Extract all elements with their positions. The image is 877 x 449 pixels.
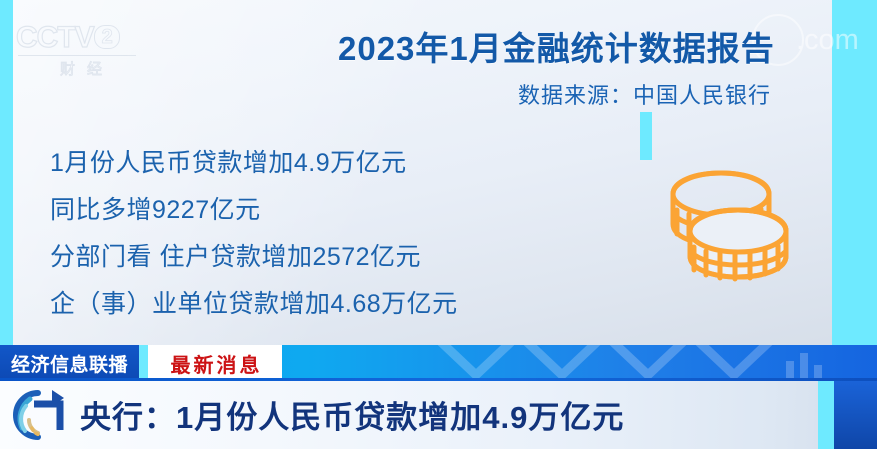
statistic-line: 同比多增9227亿元 (50, 187, 650, 234)
breaking-news-tag: 最新消息 (148, 345, 282, 381)
cctv-logo-rule (18, 55, 136, 56)
cctv-logo-wordmark: CCTV2 (16, 22, 144, 54)
cctv-channel-logo: CCTV2 财经 (16, 22, 144, 80)
cctv-logo-number: 2 (94, 25, 120, 49)
headline-text: 央行：1月份人民币贷款增加4.9万亿元 (80, 392, 624, 437)
strap-chevron-pattern (430, 345, 877, 381)
strap-cyan-separator (139, 345, 148, 381)
statistic-line: 1月份人民币贷款增加4.9万亿元 (50, 140, 650, 187)
breaking-news-label: 最新消息 (168, 349, 263, 378)
page-title: 2023年1月金融统计数据报告 (338, 22, 775, 70)
headline-blue-edge (834, 381, 877, 449)
statistic-line: 分部门看 住户贷款增加2572亿元 (50, 234, 650, 281)
statistic-line: 企（事）业单位贷款增加4.68万亿元 (50, 281, 650, 328)
coin-stack-icon (660, 168, 810, 290)
cctv-logo-subtitle: 财经 (16, 58, 144, 79)
cctv-logo-letters: CCTV (16, 21, 94, 54)
statistics-list: 1月份人民币贷款增加4.9万亿元 同比多增9227亿元 分部门看 住户贷款增加2… (50, 140, 650, 328)
program-name-block: 经济信息联播 (0, 345, 139, 381)
cctv-finance-swoosh-icon (8, 384, 70, 446)
data-source-label: 数据来源：中国人民银行 (518, 78, 771, 110)
headline-cyan-edge (818, 381, 834, 449)
left-cyan-rail (0, 0, 13, 345)
right-cyan-rail (832, 0, 877, 345)
program-name-label: 经济信息联播 (11, 350, 128, 377)
broadcast-screenshot: CCTV2 财经 .com 2023年1月金融统计数据报告 数据来源：中国人民银… (0, 0, 877, 449)
